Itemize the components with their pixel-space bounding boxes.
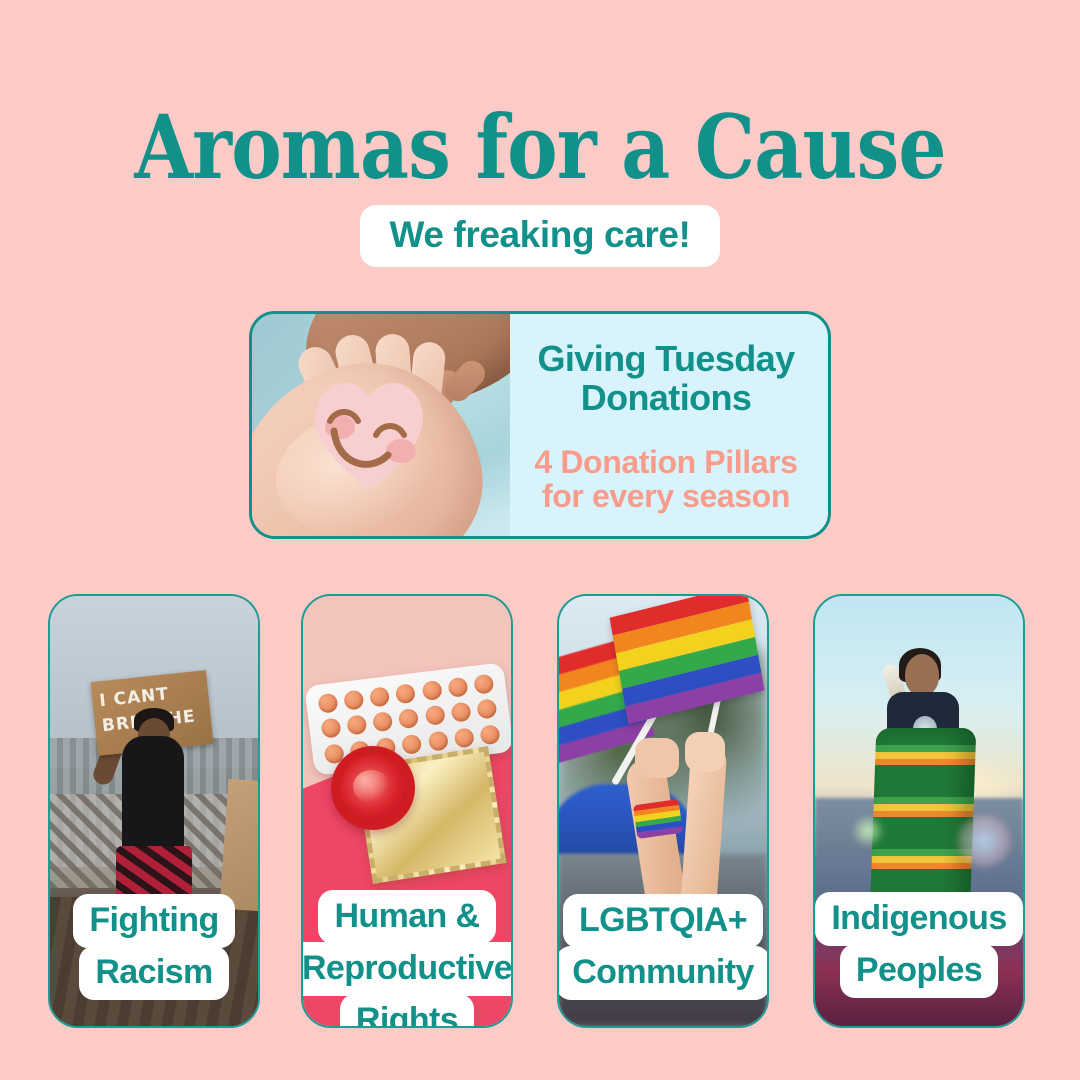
pillar-card-fighting-racism[interactable]: I CANT BREATHE Fighting Racism: [48, 594, 260, 1028]
pillar-card-human-reproductive-rights[interactable]: Human & Reproductive Rights: [301, 594, 513, 1028]
banner-subheading: 4 Donation Pillars for every season: [518, 446, 814, 524]
protest-photo: I CANT BREATHE: [50, 596, 258, 1026]
protester-body: [122, 736, 184, 858]
hands-holding-heart-photo: [252, 314, 510, 536]
protester-skirt: [116, 846, 192, 916]
banner-heading-line-2: Donations: [518, 379, 814, 418]
blanket-fringe: [875, 912, 971, 950]
pillar-cards-row: I CANT BREATHE Fighting Racism: [0, 594, 1080, 1030]
banner-heading: Giving Tuesday Donations: [518, 340, 814, 418]
banner-text-block: Giving Tuesday Donations 4 Donation Pill…: [510, 314, 828, 536]
contraception-photo: [303, 596, 511, 1026]
lens-flare: [851, 814, 885, 848]
giving-tuesday-banner[interactable]: Giving Tuesday Donations 4 Donation Pill…: [249, 311, 831, 539]
hand-holding-flag: [635, 738, 679, 778]
pride-flags-photo: [559, 596, 767, 1026]
head: [905, 654, 939, 696]
page-title: Aromas for a Cause: [76, 95, 1005, 199]
bridge-deck: [50, 897, 258, 1026]
protester-shoe: [122, 974, 156, 991]
smiling-heart-icon: [304, 369, 434, 494]
hand-holding-flag: [685, 732, 725, 772]
lens-flare: [955, 814, 1013, 868]
pillar-card-indigenous-peoples[interactable]: Indigenous Peoples: [813, 594, 1025, 1028]
striped-blanket: [870, 728, 977, 918]
indigenous-woman-photo: [815, 596, 1023, 1026]
subtitle-pill: We freaking care!: [360, 205, 721, 267]
banner-sub-line-1: 4 Donation Pillars: [518, 446, 814, 480]
red-condom: [331, 746, 415, 830]
banner-sub-line-2: for every season: [518, 480, 814, 514]
protester-leg: [130, 908, 147, 978]
banner-heading-line-1: Giving Tuesday: [518, 340, 814, 379]
woman-figure: [867, 654, 977, 984]
rainbow-wristband: [633, 799, 683, 839]
subtitle-container: We freaking care!: [0, 205, 1080, 267]
pillar-card-lgbtqia-community[interactable]: LGBTQIA+ Community: [557, 594, 769, 1028]
